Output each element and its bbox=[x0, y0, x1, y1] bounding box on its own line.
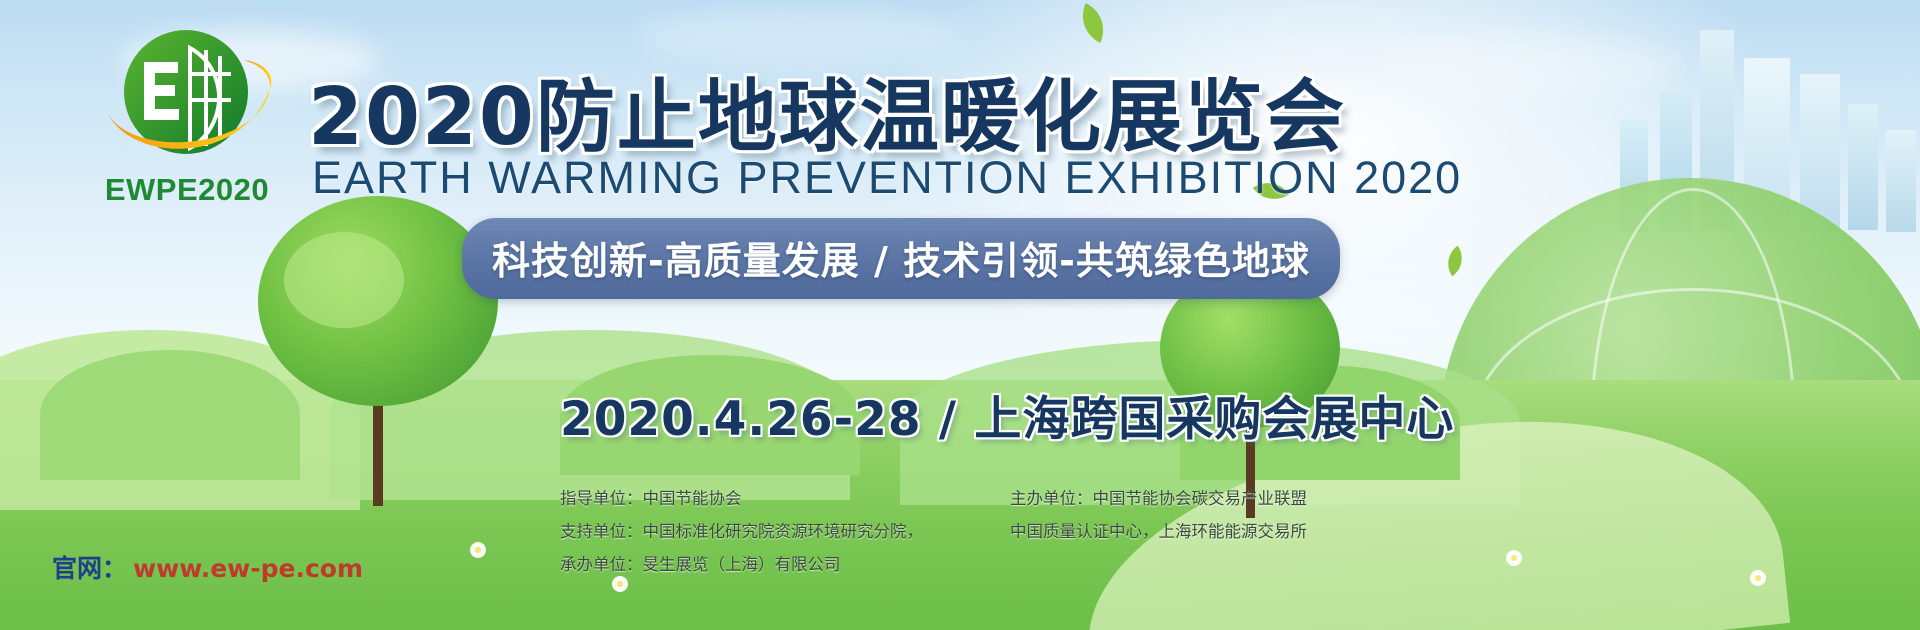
slogan-text: 科技创新-高质量发展 / 技术引领-共筑绿色地球 bbox=[492, 239, 1310, 283]
credit-row: 承办单位：旻生展览（上海）有限公司 bbox=[560, 548, 1460, 581]
credit-value: 中国节能协会碳交易产业联盟 bbox=[1093, 489, 1308, 508]
credit-value: 旻生展览（上海）有限公司 bbox=[643, 555, 841, 574]
event-logo[interactable]: EWPE2020 bbox=[72, 22, 302, 212]
credit-row: 指导单位：中国节能协会 主办单位：中国节能协会碳交易产业联盟 bbox=[560, 482, 1460, 515]
page-title-chinese: 2020防止地球温暖化展览会 bbox=[308, 52, 1346, 167]
flower-4 bbox=[1750, 570, 1766, 586]
page-title-english: EARTH WARMING PREVENTION EXHIBITION 2020 bbox=[312, 152, 1462, 204]
website-line[interactable]: 官网：www.ew-pe.com bbox=[52, 549, 363, 585]
credit-row: 支持单位：中国标准化研究院资源环境研究分院， 中国质量认证中心，上海环能能源交易… bbox=[560, 515, 1460, 548]
credits-block: 指导单位：中国节能协会 主办单位：中国节能协会碳交易产业联盟 支持单位：中国标准… bbox=[560, 482, 1460, 581]
website-url[interactable]: www.ew-pe.com bbox=[133, 554, 363, 583]
credit-label: 指导单位： bbox=[560, 489, 643, 508]
ewpe-globe-leaf-icon bbox=[94, 22, 279, 170]
credit-value: 中国标准化研究院资源环境研究分院， bbox=[643, 522, 924, 541]
credit-value: 中国节能协会 bbox=[643, 489, 742, 508]
cloud-3 bbox=[1380, 36, 1680, 94]
slogan-pill: 科技创新-高质量发展 / 技术引领-共筑绿色地球 bbox=[462, 218, 1340, 299]
website-label: 官网： bbox=[52, 554, 127, 583]
credit-label: 支持单位： bbox=[560, 522, 643, 541]
credit-value: 中国质量认证中心，上海环能能源交易所 bbox=[1010, 522, 1307, 541]
flower-3 bbox=[1506, 550, 1522, 566]
logo-text: EWPE2020 bbox=[72, 172, 302, 208]
credit-label: 承办单位： bbox=[560, 555, 643, 574]
credit-label: 主办单位： bbox=[1010, 489, 1093, 508]
flower-1 bbox=[470, 542, 486, 558]
poster-banner: EWPE2020 2020防止地球温暖化展览会 EARTH WARMING PR… bbox=[0, 0, 1920, 630]
tree-large-left bbox=[258, 196, 498, 506]
date-venue-text: 2020.4.26-28 / 上海跨国采购会展中心 bbox=[560, 380, 1454, 449]
